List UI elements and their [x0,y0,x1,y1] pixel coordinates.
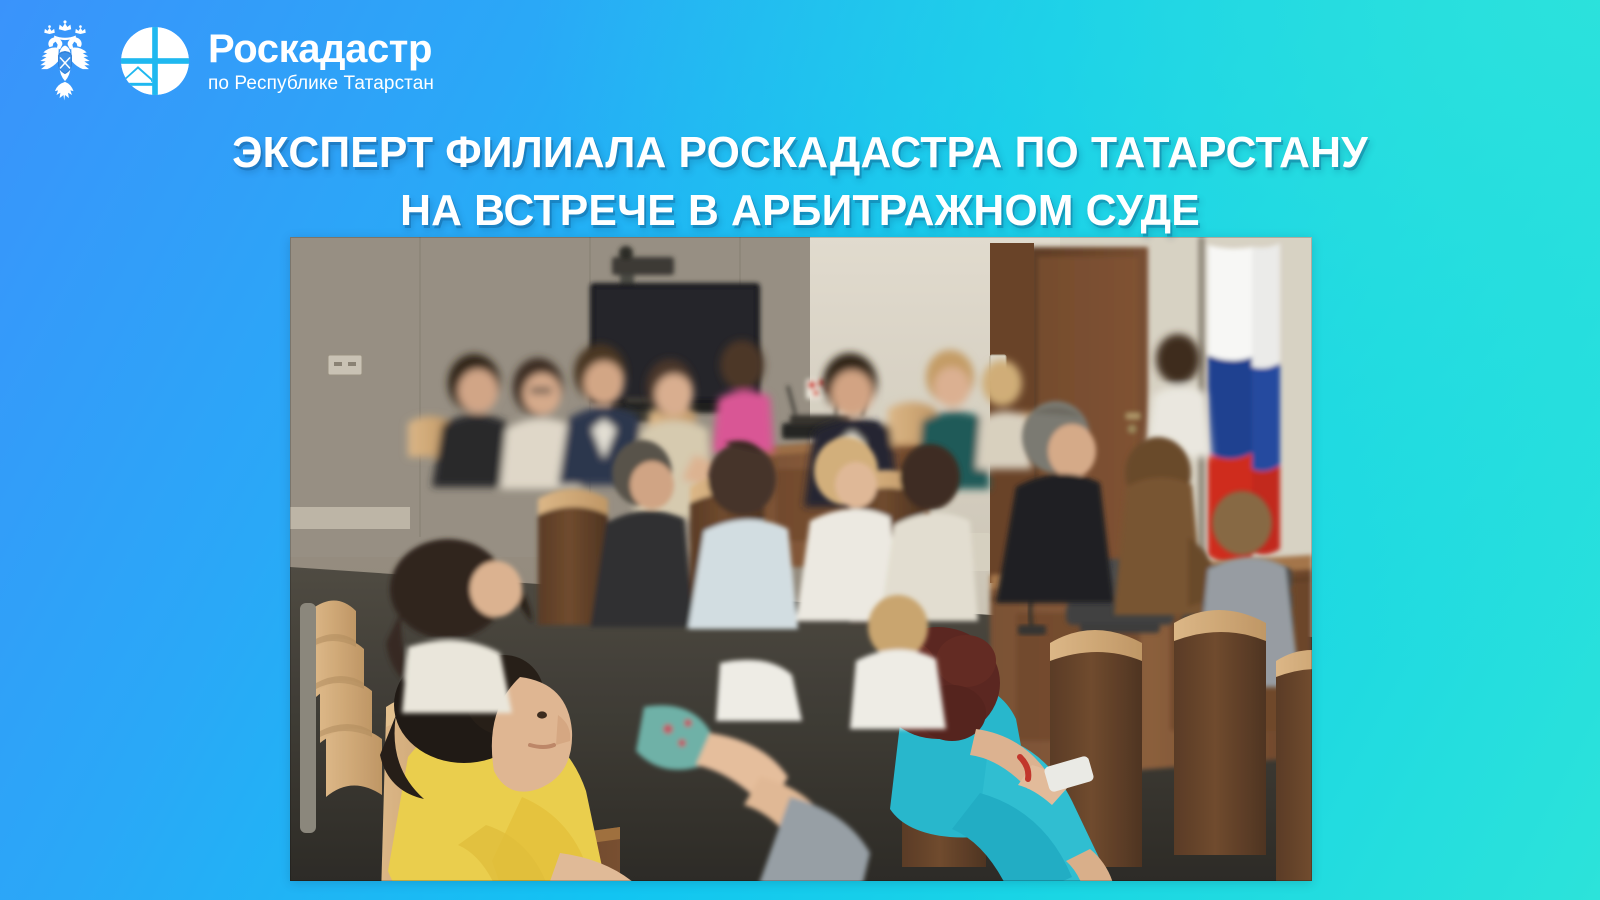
courtroom-photo [290,237,1312,881]
headline-line-1: ЭКСПЕРТ ФИЛИАЛА РОСКАДАСТРА ПО ТАТАРСТАН… [82,124,1518,182]
poster-canvas: Роскадастр по Республике Татарстан ЭКСПЕ… [0,0,1600,900]
headline-block: ЭКСПЕРТ ФИЛИАЛА РОСКАДАСТРА ПО ТАТАРСТАН… [0,124,1600,240]
brand-header: Роскадастр по Республике Татарстан [26,20,434,102]
headline-line-2: НА ВСТРЕЧЕ В АРБИТРАЖНОМ СУДЕ [82,182,1518,240]
brand-subtitle: по Республике Татарстан [208,73,434,95]
courtroom-photo-illustration [290,237,1312,881]
russian-double-headed-eagle-icon [26,20,104,102]
roskadastr-circle-house-icon [118,24,192,98]
brand-wordmark: Роскадастр по Республике Татарстан [208,29,434,95]
brand-name: Роскадастр [208,29,434,70]
